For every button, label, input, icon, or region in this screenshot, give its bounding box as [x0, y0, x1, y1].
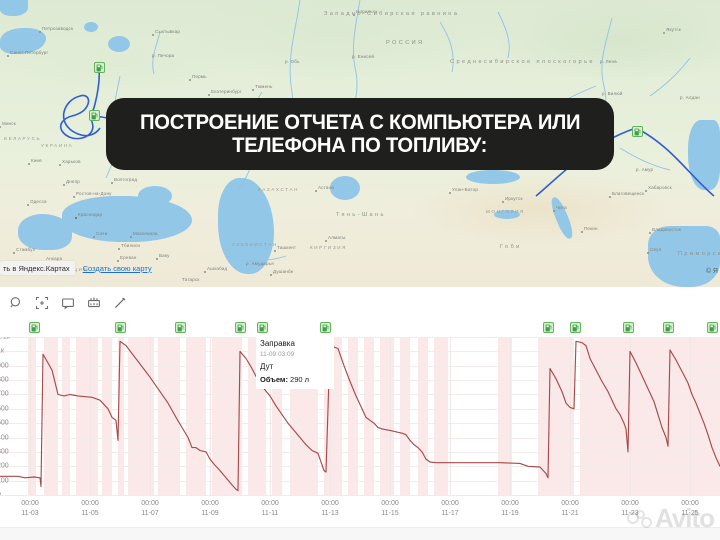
chart-x-tick-label: 00:0011-11	[261, 499, 279, 519]
map-label: р. Лена	[600, 60, 617, 65]
map-city-dot	[204, 271, 206, 273]
chart-x-tick-label: 00:0011-03	[21, 499, 39, 519]
tooltip-sensor-name: Дут	[260, 362, 330, 373]
map-city-dot	[118, 248, 120, 250]
map-city-dot	[13, 252, 15, 254]
map-label: Екатеринбург	[211, 90, 242, 95]
map-label: Сеул	[650, 248, 661, 253]
refuel-tooltip: Заправка 11-09 03:09 Дут Объем: 290 л	[256, 337, 334, 389]
map-label: РОССИЯ	[386, 41, 425, 47]
map-label: Среднесибирское плоскогорье	[450, 60, 595, 66]
map-label: Баку	[159, 254, 170, 259]
comment-icon[interactable]	[59, 295, 76, 312]
map-label: Киев	[31, 159, 42, 164]
chart-refuel-marker[interactable]	[623, 322, 634, 333]
map-city-dot	[325, 240, 327, 242]
avito-wordmark: Avito	[655, 503, 714, 534]
refuel-marker-row[interactable]	[0, 319, 720, 337]
x-tick-time: 00:00	[501, 499, 519, 509]
map-label: УКРАИНА	[41, 144, 73, 149]
map-city-dot	[553, 210, 555, 212]
map-city-dot	[63, 184, 65, 186]
x-tick-date: 11-15	[381, 509, 399, 519]
map-tools-toolbar[interactable]	[0, 287, 720, 319]
map-label: Ашхабад	[207, 267, 227, 272]
map-city-dot	[111, 182, 113, 184]
map-label: Чита	[556, 206, 567, 211]
map-label: Душанбе	[273, 270, 293, 275]
x-tick-date: 11-13	[321, 509, 339, 519]
chart-x-tick-label: 00:0011-09	[201, 499, 219, 519]
map-city-dot	[39, 31, 41, 33]
chart-y-tick-label: 1.1к	[0, 337, 10, 341]
chart-refuel-marker[interactable]	[543, 322, 554, 333]
map-label: Харьков	[62, 160, 81, 165]
map-label: Санкт-Петербург	[10, 51, 48, 56]
map-label: Хабаровск	[648, 186, 672, 191]
x-tick-time: 00:00	[141, 499, 159, 509]
x-tick-time: 00:00	[81, 499, 99, 509]
fuel-level-chart[interactable]: 1.1к1к9008007006005004003002001000 00:00…	[0, 319, 720, 527]
create-own-map-link[interactable]: Создать свою карту	[83, 264, 152, 273]
tooltip-title: Заправка	[260, 339, 330, 350]
map-label: р. Печора	[152, 54, 174, 59]
map-label: КАЗАХСТАН	[258, 188, 299, 193]
chart-x-tick-label: 00:0011-13	[321, 499, 339, 519]
fuel-level-series	[0, 337, 720, 495]
x-tick-date: 11-17	[441, 509, 459, 519]
chart-y-tick-label: 1к	[0, 348, 4, 355]
pencil-icon[interactable]	[111, 295, 128, 312]
map-label: Улан-Батор	[452, 188, 478, 193]
chart-y-tick-label: 700	[0, 391, 9, 398]
map-label: Благовещенск	[612, 192, 644, 197]
map-label: Тюмень	[255, 85, 273, 90]
map-label: Тянь-Шань	[336, 213, 386, 219]
map-label: Махачкала	[133, 232, 158, 237]
chart-y-tick-label: 300	[0, 448, 9, 455]
map-city-dot	[645, 190, 647, 192]
map-label: Пекин	[584, 227, 598, 232]
map-city-dot	[581, 231, 583, 233]
map-city-dot	[28, 163, 30, 165]
chart-refuel-marker[interactable]	[257, 322, 268, 333]
page-bottom-strip	[0, 527, 720, 540]
avito-watermark: Avito	[627, 503, 714, 534]
map-city-dot	[27, 204, 29, 206]
x-tick-time: 00:00	[561, 499, 579, 509]
map-label: р. Алдан	[680, 96, 700, 101]
headline-banner: ПОСТРОЕНИЕ ОТЧЕТА С КОМПЬЮТЕРА ИЛИ ТЕЛЕФ…	[106, 98, 614, 170]
map-city-dot	[502, 201, 504, 203]
chart-y-tick-label: 100	[0, 477, 9, 484]
map-label: р. Енисей	[352, 55, 374, 60]
map-city-dot	[152, 34, 154, 36]
chart-refuel-marker[interactable]	[29, 322, 40, 333]
map-city-dot	[649, 232, 651, 234]
map-label: р. Амур	[636, 168, 653, 173]
chart-y-tick-label: 400	[0, 434, 9, 441]
map-label: Одесса	[30, 200, 47, 205]
chart-x-tick-label: 00:0011-17	[441, 499, 459, 519]
chart-y-tick-label: 800	[0, 377, 9, 384]
map-city-dot	[663, 32, 665, 34]
x-tick-time: 00:00	[21, 499, 39, 509]
chart-refuel-marker[interactable]	[570, 322, 581, 333]
map-fuel-marker[interactable]	[632, 126, 643, 137]
chart-x-tick-label: 00:0011-21	[561, 499, 579, 519]
map-label: МОНГОЛИЯ	[486, 210, 525, 215]
tooltip-timestamp: 11-09 03:09	[260, 351, 330, 360]
map-label: Сочи	[96, 232, 107, 237]
map-label: р. Амударья	[246, 262, 274, 267]
search-icon[interactable]	[7, 295, 24, 312]
x-tick-date: 11-05	[81, 509, 99, 519]
map-label: р. Вилюй	[602, 92, 623, 97]
map-label: Татарск	[182, 278, 200, 283]
map-label: Алматы	[328, 236, 346, 241]
headline-line-2: ТЕЛЕФОНА ПО ТОПЛИВУ:	[233, 134, 488, 157]
map-label: Астана	[318, 186, 334, 191]
x-tick-date: 11-07	[141, 509, 159, 519]
x-tick-time: 00:00	[201, 499, 219, 509]
map-label: Якутск	[666, 28, 681, 33]
map-city-dot	[647, 252, 649, 254]
map-city-dot	[449, 192, 451, 194]
map-label: Гоби	[500, 245, 522, 251]
chart-y-tick-label: 600	[0, 405, 9, 412]
map-label: Минск	[2, 122, 16, 127]
map-city-dot	[208, 94, 210, 96]
map-label: Днепр	[66, 180, 80, 185]
map-label: Петрозаводск	[42, 27, 73, 32]
map-label: р. Обь	[285, 60, 300, 65]
x-tick-date: 11-11	[261, 509, 279, 519]
chart-x-axis: 00:0011-0300:0011-0500:0011-0700:0011-09…	[0, 495, 720, 527]
x-tick-time: 00:00	[441, 499, 459, 509]
avito-logo-icon	[627, 510, 653, 528]
x-tick-date: 11-03	[21, 509, 39, 519]
map-city-dot	[189, 79, 191, 81]
chart-y-tick-label: 900	[0, 362, 9, 369]
map-label: Ростов-на-Дону	[76, 192, 112, 197]
map-city-dot	[252, 89, 254, 91]
map-label: Сыктывкар	[155, 30, 180, 35]
chart-refuel-marker[interactable]	[235, 322, 246, 333]
map-label: Приморский хребет	[678, 252, 720, 258]
map-label: УЗБЕКИСТАН	[232, 243, 278, 248]
map-city-dot	[270, 274, 272, 276]
chart-refuel-marker[interactable]	[663, 322, 674, 333]
chart-refuel-marker[interactable]	[707, 322, 718, 333]
chart-y-tick-label: 200	[0, 463, 9, 470]
map-city-dot	[315, 190, 317, 192]
tooltip-volume: Объем: 290 л	[260, 375, 330, 385]
chart-refuel-marker[interactable]	[115, 322, 126, 333]
ruler-icon[interactable]	[85, 295, 102, 312]
map-city-dot	[59, 164, 61, 166]
map-label: Ташкент	[277, 246, 296, 251]
map-label: Тбилиси	[121, 244, 140, 249]
chart-x-tick-label: 00:0011-05	[81, 499, 99, 519]
chart-x-tick-label: 00:0011-07	[141, 499, 159, 519]
map-label: БЕЛАРУСЬ	[4, 137, 41, 142]
map-label: Ереван	[120, 256, 137, 261]
chart-x-tick-label: 00:0011-19	[501, 499, 519, 519]
yandex-maps-logo: © Я	[706, 268, 718, 275]
map-city-dot	[93, 236, 95, 238]
headline-line-1: ПОСТРОЕНИЕ ОТЧЕТА С КОМПЬЮТЕРА ИЛИ	[140, 111, 580, 134]
map-city-dot	[609, 196, 611, 198]
map-label: Стамбул	[16, 248, 35, 253]
map-city-dot	[73, 196, 75, 198]
map-label: Иркутск	[505, 197, 523, 202]
map-label: Владивосток	[652, 228, 681, 233]
map-bottom-bar: ть в Яндекс.Картах Создать свою карту	[0, 261, 152, 275]
map-city-dot	[130, 236, 132, 238]
tooltip-volume-value: 290 л	[290, 375, 309, 384]
fullscreen-icon[interactable]	[33, 295, 50, 312]
map-label: Волгоград	[114, 178, 137, 183]
chart-refuel-marker[interactable]	[320, 322, 331, 333]
chart-refuel-marker[interactable]	[175, 322, 186, 333]
chart-y-tick-label: 500	[0, 420, 9, 427]
map-label: КИРГИЗИЯ	[310, 246, 347, 251]
x-tick-date: 11-21	[561, 509, 579, 519]
map-label: Пермь	[192, 75, 207, 80]
map-fuel-marker[interactable]	[89, 110, 100, 121]
chart-x-tick-label: 00:0011-15	[381, 499, 399, 519]
tooltip-volume-label: Объем:	[260, 375, 288, 384]
x-tick-date: 11-09	[201, 509, 219, 519]
map-fuel-marker[interactable]	[94, 62, 105, 73]
x-tick-time: 00:00	[381, 499, 399, 509]
map-city-dot	[156, 258, 158, 260]
map-city-dot	[7, 55, 9, 57]
map-label: Западно-Сибирская равнина	[324, 12, 459, 18]
x-tick-time: 00:00	[321, 499, 339, 509]
map-city-dot	[274, 250, 276, 252]
map-city-dot	[75, 217, 77, 219]
x-tick-date: 11-19	[501, 509, 519, 519]
chart-plot-area[interactable]: 1.1к1к9008007006005004003002001000	[0, 337, 720, 495]
open-in-yandex-maps-button[interactable]: ть в Яндекс.Картах	[0, 261, 75, 275]
x-tick-time: 00:00	[261, 499, 279, 509]
map-label: Краснодар	[78, 213, 102, 218]
